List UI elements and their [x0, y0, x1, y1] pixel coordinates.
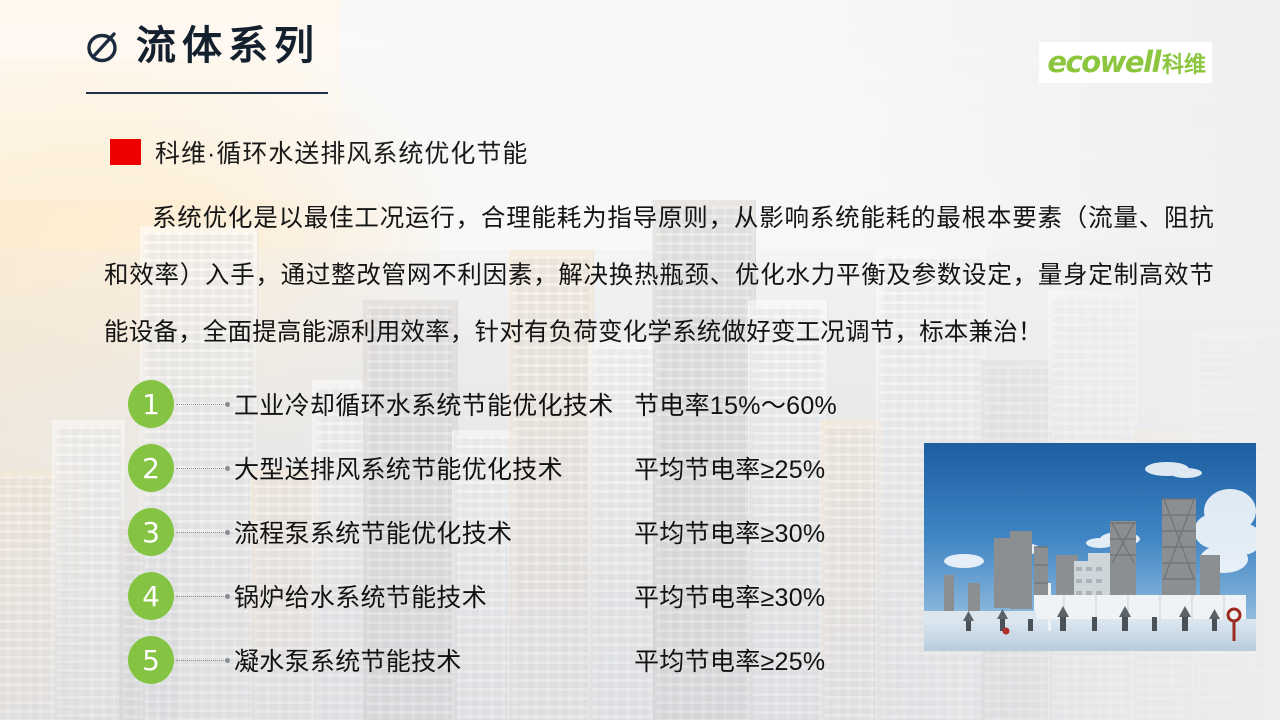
list-item[interactable]: 5 凝水泵系统节能技术 平均节电率≥25%: [128, 628, 918, 692]
list-item-name: 工业冷却循环水系统节能优化技术: [234, 386, 634, 422]
list-number-badge: 2: [128, 444, 174, 492]
section-heading: 科维·循环水送排风系统优化节能: [110, 134, 528, 170]
dotted-leader: [176, 468, 228, 469]
list-item-name: 锅炉给水系统节能技术: [234, 578, 634, 614]
list-item-rate: 平均节电率≥30%: [634, 514, 825, 550]
logo-text-cn: 科维: [1162, 47, 1206, 79]
dotted-leader: [176, 404, 228, 405]
list-item[interactable]: 3 流程泵系统节能优化技术 平均节电率≥30%: [128, 500, 918, 564]
list-number-badge: 1: [128, 380, 174, 428]
dotted-leader: [176, 596, 228, 597]
plant-photo-graphic: [924, 443, 1256, 651]
list-item-rate: 节电率15%～60%: [634, 386, 837, 422]
list-item-rate: 平均节电率≥30%: [634, 578, 825, 614]
brand-logo: ecowell 科维: [1039, 42, 1212, 83]
list-number-badge: 4: [128, 572, 174, 620]
list-number-badge: 3: [128, 508, 174, 556]
presentation-slide: 流体系列 ecowell 科维 科维·循环水送排风系统优化节能 系统优化是以最佳…: [0, 0, 1280, 720]
logo-text-en: ecowell: [1047, 45, 1160, 79]
list-item-name: 大型送排风系统节能优化技术: [234, 450, 634, 486]
section-heading-text: 科维·循环水送排风系统优化节能: [155, 134, 528, 170]
technology-list: 1 工业冷却循环水系统节能优化技术 节电率15%～60% 2 大型送排风系统节能…: [128, 372, 918, 692]
dotted-leader: [176, 532, 228, 533]
list-item-name: 流程泵系统节能优化技术: [234, 514, 634, 550]
list-item[interactable]: 4 锅炉给水系统节能技术 平均节电率≥30%: [128, 564, 918, 628]
list-item-rate: 平均节电率≥25%: [634, 450, 825, 486]
list-item[interactable]: 1 工业冷却循环水系统节能优化技术 节电率15%～60%: [128, 372, 918, 436]
red-square-bullet-icon: [110, 139, 141, 165]
phi-slash-icon: [86, 26, 120, 66]
slide-header: 流体系列: [86, 26, 320, 66]
dotted-leader: [176, 660, 228, 661]
list-item-name: 凝水泵系统节能技术: [234, 642, 634, 678]
page-title: 流体系列: [136, 26, 320, 66]
list-item[interactable]: 2 大型送排风系统节能优化技术 平均节电率≥25%: [128, 436, 918, 500]
body-paragraph: 系统优化是以最佳工况运行，合理能耗为指导原则，从影响系统能耗的最根本要素（流量、…: [104, 190, 1214, 361]
industrial-plant-photo: [924, 443, 1256, 651]
title-underline: [86, 92, 328, 94]
list-number-badge: 5: [128, 636, 174, 684]
list-item-rate: 平均节电率≥25%: [634, 642, 825, 678]
